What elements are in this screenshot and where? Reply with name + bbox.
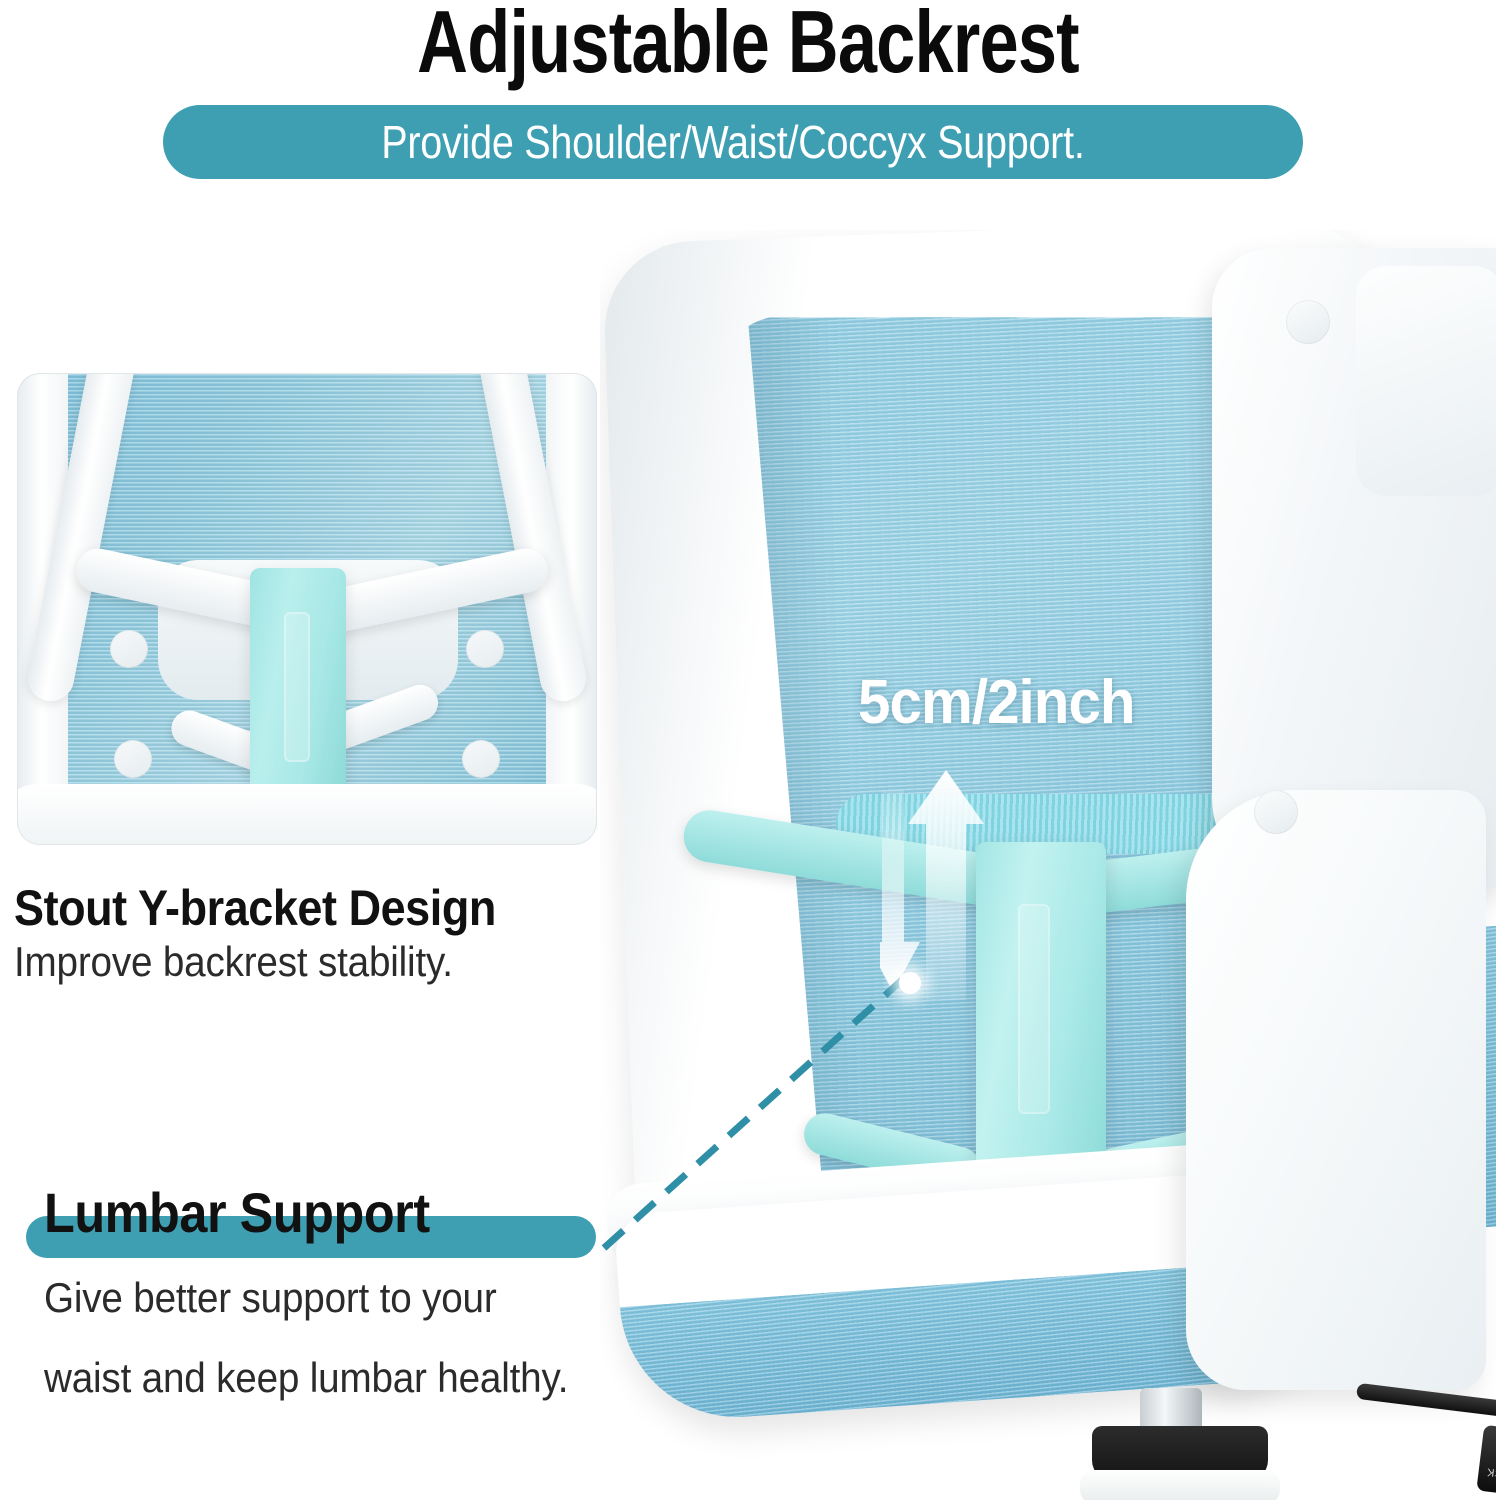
y-bracket-description: Improve backrest stability.: [14, 936, 507, 988]
chair-product-image: 5cm/2inch: [600, 230, 1496, 1500]
lumbar-heading-wrap: Lumbar Support: [44, 1182, 473, 1244]
tilt-lock-knob[interactable]: LOCK FREE: [1476, 1425, 1496, 1500]
backrest-bottom-rail: [18, 784, 596, 844]
page-title: Adjustable Backrest: [150, 0, 1347, 88]
armrest-post: [1186, 790, 1486, 1390]
callout-dot-icon: [899, 972, 921, 994]
feature-lumbar-support: Lumbar Support Give better support to yo…: [44, 1182, 614, 1404]
infographic-stage: Adjustable Backrest Provide Shoulder/Wai…: [0, 0, 1496, 1500]
lumbar-description-line-2: waist and keep lumbar healthy.: [44, 1352, 568, 1404]
armrest-pad: [1356, 266, 1496, 496]
travel-distance-label: 5cm/2inch: [858, 670, 1135, 736]
y-bracket-detail-image: [18, 374, 596, 844]
frame-screw-left-lower: [114, 740, 152, 778]
feature-y-bracket: Stout Y-bracket Design Improve backrest …: [14, 880, 549, 988]
armrest-screw-lower: [1254, 790, 1298, 834]
lumbar-description-line-1: Give better support to your: [44, 1272, 568, 1324]
frame-screw-right-lower: [462, 740, 500, 778]
mint-lumbar-bracket: [250, 568, 346, 798]
armrest-screw-upper: [1286, 300, 1330, 344]
lever-label-lock: LOCK: [1486, 1465, 1496, 1481]
frame-screw-left: [110, 630, 148, 668]
subtitle-text: Provide Shoulder/Waist/Coccyx Support.: [381, 117, 1084, 167]
frame-screw-right: [466, 630, 504, 668]
subtitle-pill: Provide Shoulder/Waist/Coccyx Support.: [163, 105, 1303, 179]
adjustment-arrows: [880, 770, 1180, 1100]
arrow-up-icon: [908, 770, 984, 1000]
y-bracket-heading: Stout Y-bracket Design: [14, 880, 496, 936]
base-collar: [1080, 1470, 1280, 1500]
lumbar-heading: Lumbar Support: [44, 1182, 430, 1244]
